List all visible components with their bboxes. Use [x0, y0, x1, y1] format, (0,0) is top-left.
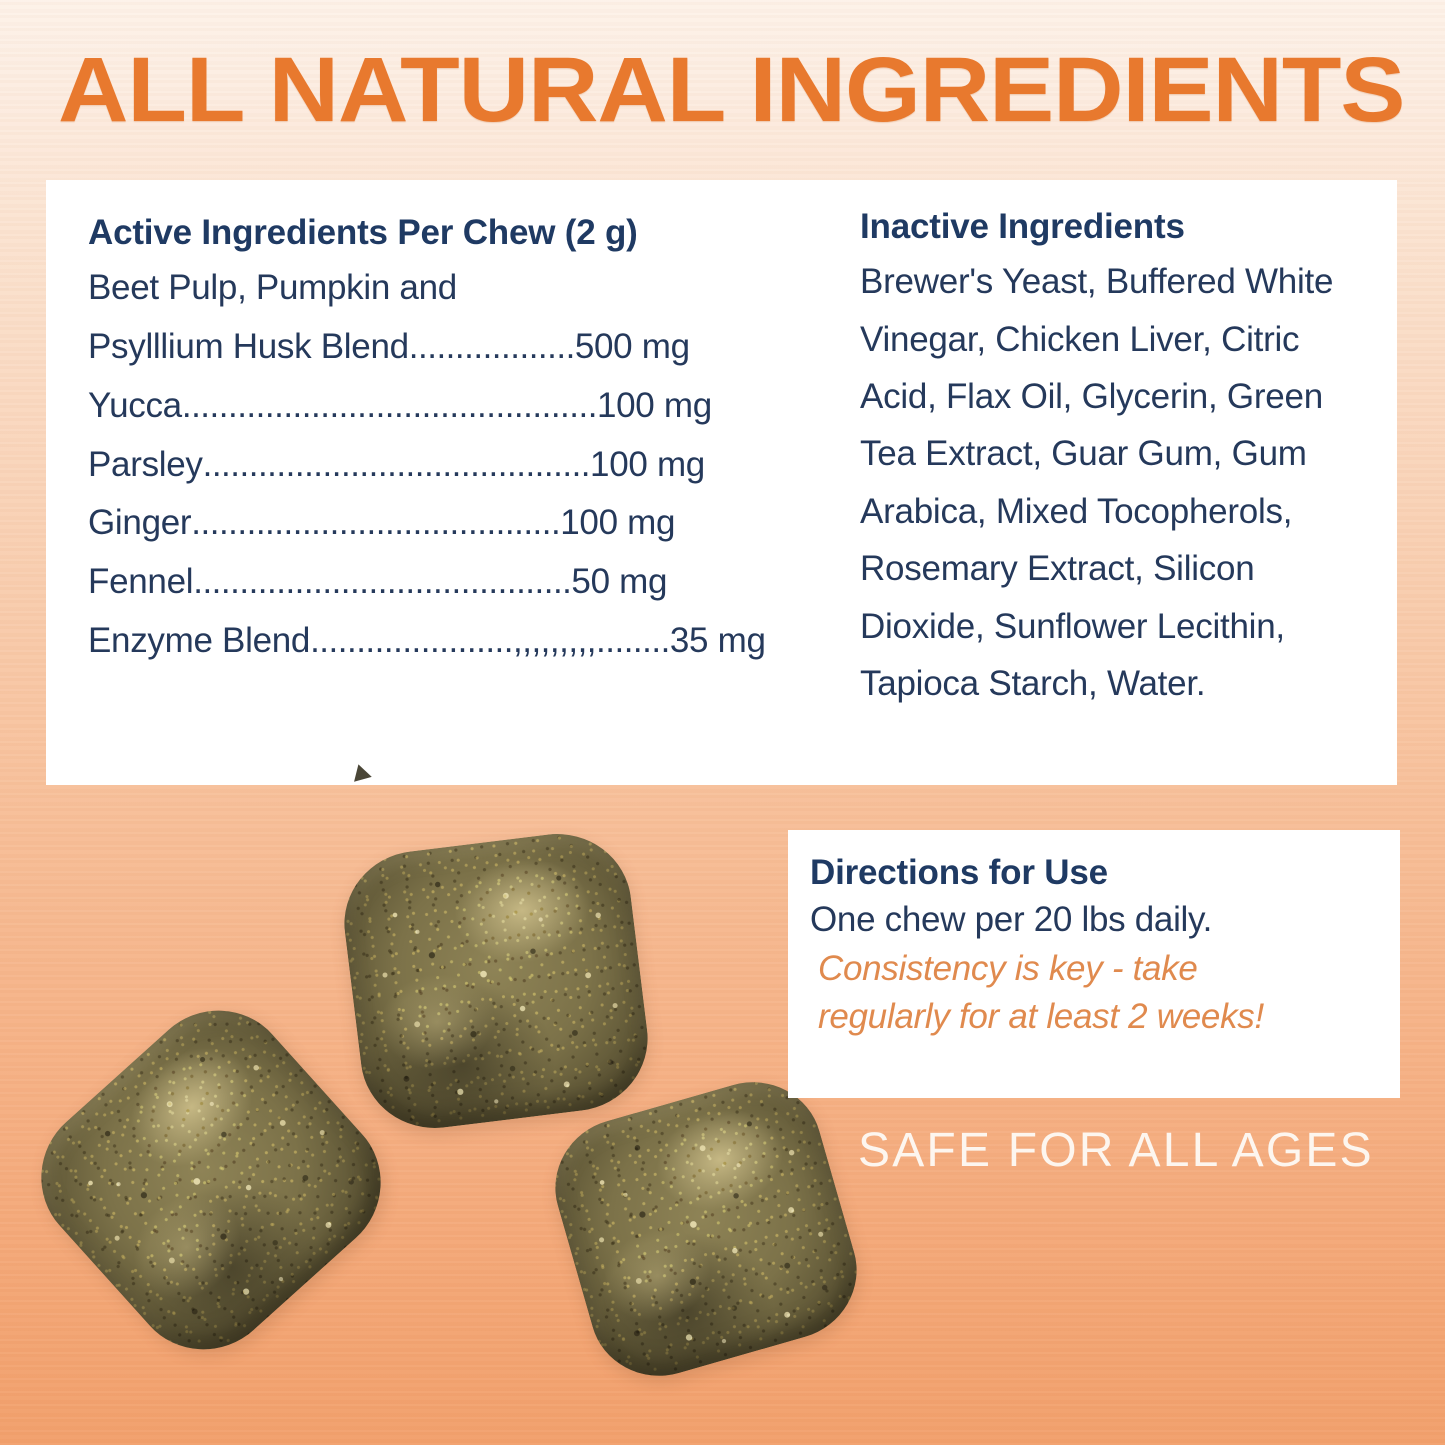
active-row: Fennel..................................…: [88, 553, 846, 612]
active-row-name: Enzyme Blend: [88, 621, 310, 660]
active-row-name: Yucca: [88, 386, 182, 425]
product-chew-image: [539, 1066, 873, 1393]
directions-emphasis-line-2: regularly for at least 2 weeks!: [810, 993, 1380, 1041]
product-chew-image: [11, 980, 411, 1379]
active-row-amount: 500 mg: [575, 327, 690, 366]
directions-heading: Directions for Use: [810, 852, 1380, 894]
directions-dosage-text: One chew per 20 lbs daily.: [810, 896, 1380, 943]
product-chew-image: [336, 825, 656, 1136]
active-row-name: Fennel: [88, 562, 193, 601]
inactive-ingredients-text: Brewer's Yeast, Buffered White Vinegar, …: [860, 253, 1369, 712]
active-row-amount: 100 mg: [597, 386, 712, 425]
active-row-amount: 35 mg: [670, 621, 766, 660]
active-row-leader: ........................................…: [193, 562, 571, 601]
active-row-leader: ........................................…: [203, 445, 590, 484]
active-row: Psylllium Husk Blend..................50…: [88, 318, 846, 377]
active-row-amount: 100 mg: [590, 445, 705, 484]
active-row-amount: 100 mg: [560, 503, 675, 542]
active-row-leader: ........................................: [191, 503, 560, 542]
active-row-amount: 50 mg: [571, 562, 667, 601]
directions-card: Directions for Use One chew per 20 lbs d…: [788, 830, 1400, 1098]
active-row: Enzyme Blend......................,,,,,,…: [88, 612, 846, 671]
active-row-leader: ..................: [409, 327, 575, 366]
active-row: Ginger..................................…: [88, 494, 846, 553]
active-row-name: Psylllium Husk Blend: [88, 327, 409, 366]
product-infographic: ALL NATURAL INGREDIENTS Active Ingredien…: [0, 0, 1445, 1445]
ingredients-card: Active Ingredients Per Chew (2 g) Beet P…: [46, 180, 1397, 785]
active-ingredients-heading: Active Ingredients Per Chew (2 g): [88, 212, 846, 253]
safe-for-all-ages-badge: SAFE FOR ALL AGES: [858, 1123, 1374, 1178]
active-row-name: Ginger: [88, 503, 191, 542]
page-title: ALL NATURAL INGREDIENTS: [58, 44, 1445, 136]
inactive-ingredients-column: Inactive Ingredients Brewer's Yeast, Buf…: [846, 180, 1397, 785]
active-row-leader: ......................,,,,,,,,,........: [310, 621, 670, 660]
active-row: Yucca...................................…: [88, 377, 846, 436]
active-row: Parsley.................................…: [88, 436, 846, 495]
active-row-wrap-text: Beet Pulp, Pumpkin and: [88, 259, 846, 318]
active-row-name: Parsley: [88, 445, 203, 484]
directions-emphasis-line-1: Consistency is key - take: [810, 945, 1380, 993]
inactive-ingredients-heading: Inactive Ingredients: [860, 206, 1369, 247]
active-row-leader: ........................................…: [182, 386, 597, 425]
active-ingredients-column: Active Ingredients Per Chew (2 g) Beet P…: [46, 180, 846, 785]
